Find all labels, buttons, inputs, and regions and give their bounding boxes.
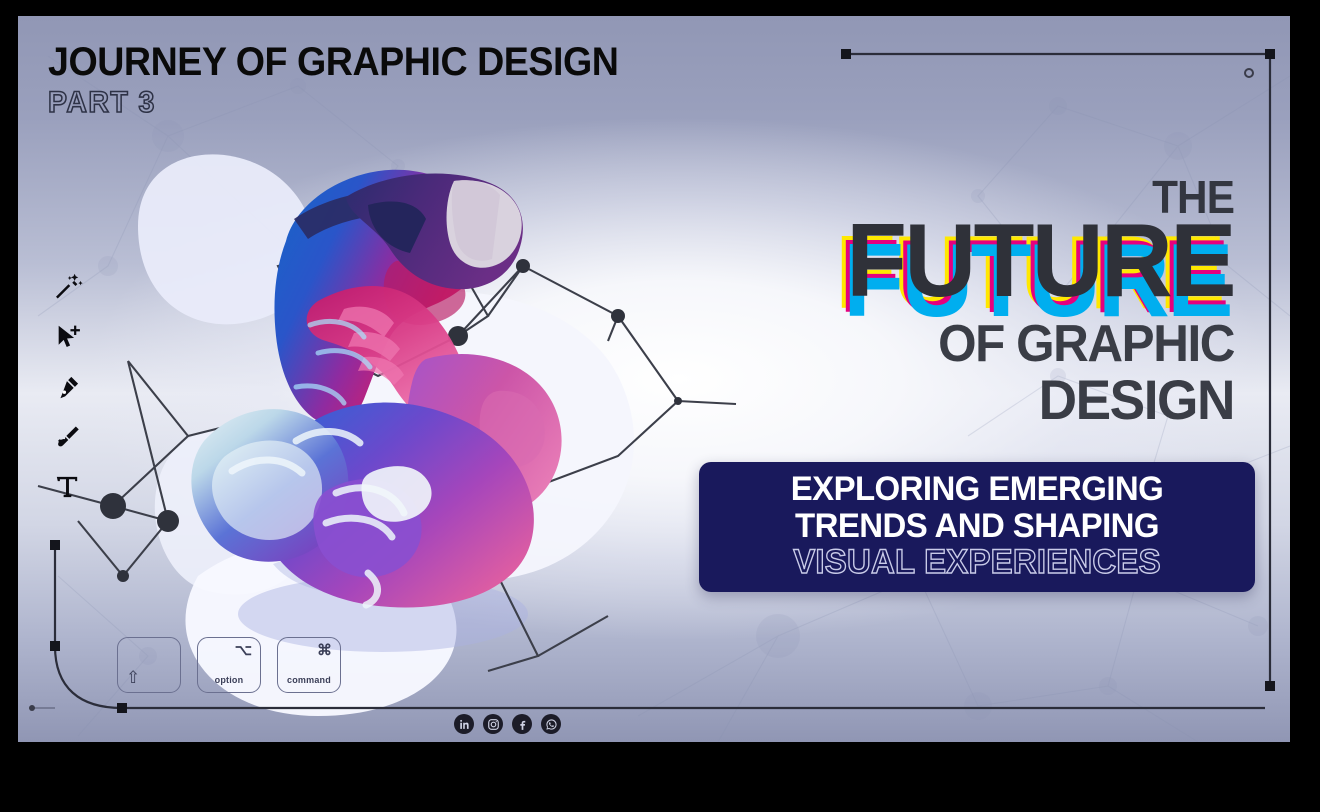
linkedin-icon[interactable] — [454, 714, 474, 734]
anchor-point-top-right — [1265, 49, 1275, 59]
poster-canvas: JOURNEY OF GRAPHIC DESIGN PART 3 THE FUT… — [18, 16, 1290, 742]
social-links — [454, 714, 561, 734]
pen-nib-icon[interactable] — [54, 362, 98, 412]
shift-arrow-icon: ⇧ — [126, 669, 140, 686]
tool-palette — [54, 262, 98, 512]
headline-future: FUTURE FUTURE FUTURE FUTURE — [694, 214, 1234, 310]
banner-line-1: EXPLORING EMERGING — [721, 471, 1233, 508]
command-key-label: command — [278, 675, 340, 685]
poster-frame: JOURNEY OF GRAPHIC DESIGN PART 3 THE FUT… — [0, 0, 1320, 812]
instagram-icon[interactable] — [483, 714, 503, 734]
option-key-label: option — [198, 675, 260, 685]
anchor-point-bottom-right — [1265, 681, 1275, 691]
banner-line-3: VISUAL EXPERIENCES — [721, 544, 1233, 581]
headline-block: THE FUTURE FUTURE FUTURE FUTURE OF GRAPH… — [694, 174, 1234, 428]
whatsapp-icon[interactable] — [541, 714, 561, 734]
subtitle-banner: EXPLORING EMERGING TRENDS AND SHAPING VI… — [699, 462, 1255, 592]
part-label: PART 3 — [48, 88, 625, 118]
command-symbol-icon: ⌘ — [317, 643, 332, 658]
header-block: JOURNEY OF GRAPHIC DESIGN PART 3 — [48, 42, 655, 118]
paintbrush-icon[interactable] — [54, 412, 98, 462]
vr-headset-illustration — [168, 141, 638, 611]
shift-key[interactable]: ⇧ — [117, 637, 181, 693]
anchor-point-curve-end — [117, 703, 127, 713]
headline-of-graphic: OF GRAPHIC — [721, 318, 1234, 371]
facebook-icon[interactable] — [512, 714, 532, 734]
future-main-layer: FUTURE — [846, 214, 1234, 310]
option-key[interactable]: ⌥ option — [197, 637, 261, 693]
anchor-point-left-lower — [50, 641, 60, 651]
anchor-point-top-left — [841, 49, 851, 59]
page-title: JOURNEY OF GRAPHIC DESIGN — [48, 42, 618, 82]
option-symbol-icon: ⌥ — [235, 643, 252, 658]
text-tool-icon[interactable] — [54, 462, 98, 512]
command-key[interactable]: ⌘ command — [277, 637, 341, 693]
selection-add-icon[interactable] — [54, 312, 98, 362]
handle-dot-left — [29, 705, 35, 711]
magic-wand-icon[interactable] — [54, 262, 98, 312]
keyboard-keys: ⇧ ⌥ option ⌘ command — [117, 637, 341, 693]
banner-line-2: TRENDS AND SHAPING — [721, 508, 1233, 545]
headline-design: DESIGN — [721, 371, 1234, 428]
anchor-point-left-upper — [50, 540, 60, 550]
handle-circle-top-right — [1245, 69, 1253, 77]
